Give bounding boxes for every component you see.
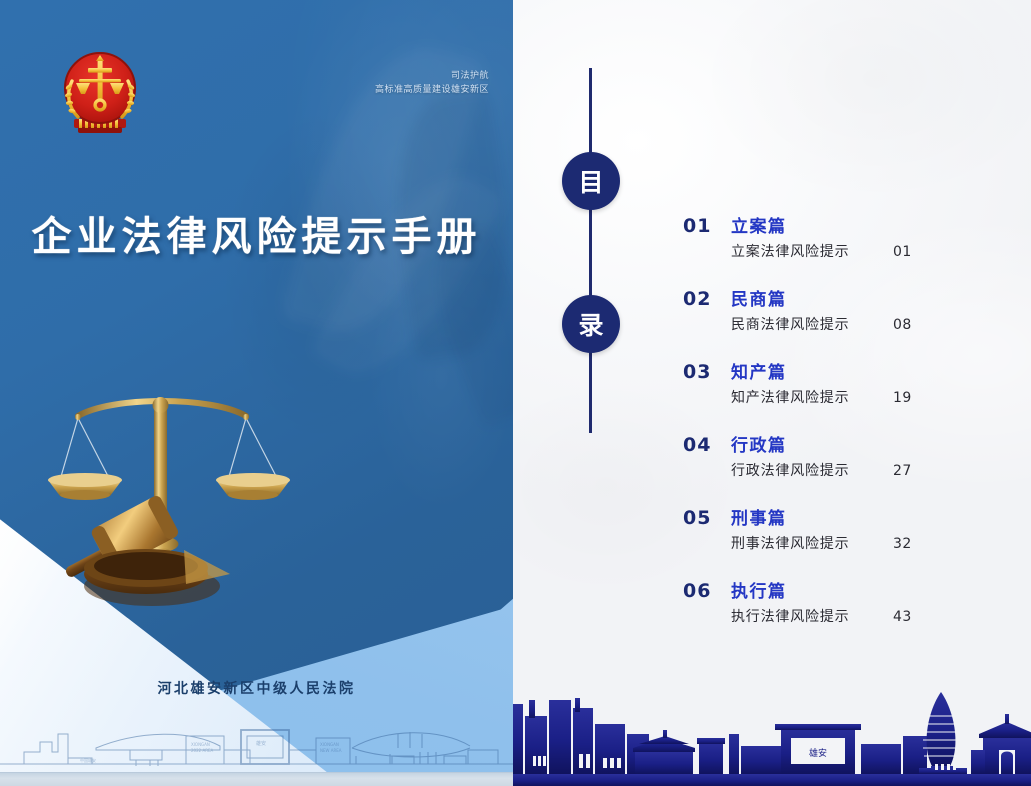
toc-entry[interactable]: 01 立案篇 立案法律风险提示 01 [683, 212, 1003, 285]
cover-bottom-strip [0, 772, 513, 786]
svg-text:中国雄安: 中国雄安 [80, 757, 96, 763]
toc-entry-description: 行政法律风险提示 [731, 460, 893, 480]
toc-entry-number: 03 [683, 361, 731, 383]
tagline-line-2: 高标准高质量建设雄安新区 [375, 84, 489, 98]
toc-entry-description: 刑事法律风险提示 [731, 533, 893, 553]
toc-entry-section: 刑事篇 [731, 504, 787, 529]
toc-entry-page: 43 [893, 609, 912, 625]
china-court-emblem-icon [52, 41, 148, 143]
cover-page: 司法护航 高标准高质量建设雄安新区 企业法律风险提示手册 [0, 0, 513, 786]
toc-entry-section: 行政篇 [731, 431, 787, 456]
svg-text:XIONGAN: XIONGAN [191, 742, 210, 747]
toc-entry-number: 04 [683, 434, 731, 456]
toc-entry-section: 民商篇 [731, 285, 787, 310]
toc-badge-lu: 录 [562, 295, 620, 353]
toc-entry-description: 执行法律风险提示 [731, 606, 893, 626]
toc-badge-mu: 目 [562, 152, 620, 210]
toc-entry[interactable]: 02 民商篇 民商法律风险提示 08 [683, 285, 1003, 358]
toc-entry-section: 执行篇 [731, 577, 787, 602]
toc-vertical-rail [589, 68, 592, 433]
xiongan-skyline-outline-icon: 中国雄安 XIONGAN2022 AREA 雄安 XIONGANNEW AREA [0, 712, 513, 772]
toc-entry-page: 32 [893, 536, 912, 552]
toc-entry-number: 06 [683, 580, 731, 602]
tagline-line-1: 司法护航 [375, 70, 489, 84]
svg-text:NEW AREA: NEW AREA [320, 748, 342, 753]
toc-entry-number: 01 [683, 215, 731, 237]
court-name: 河北雄安新区中级人民法院 [0, 678, 513, 698]
xiongan-skyline-silhouette-icon: 雄安 [513, 686, 1031, 786]
toc-entry-number: 05 [683, 507, 731, 529]
toc-entry-description: 立案法律风险提示 [731, 241, 893, 261]
skyline-gate-label: 雄安 [809, 747, 827, 759]
toc-list: 01 立案篇 立案法律风险提示 01 02 民商篇 民商法律风险提示 08 [683, 212, 1003, 650]
cover-title: 企业法律风险提示手册 [0, 204, 513, 262]
svg-text:雄安: 雄安 [256, 740, 266, 747]
toc-entry-number: 02 [683, 288, 731, 310]
svg-text:XIONGAN: XIONGAN [320, 742, 339, 747]
toc-entry[interactable]: 04 行政篇 行政法律风险提示 27 [683, 431, 1003, 504]
svg-text:2022 AREA: 2022 AREA [191, 748, 213, 753]
toc-entry-page: 08 [893, 317, 912, 333]
toc-entry-section: 知产篇 [731, 358, 787, 383]
toc-entry-section: 立案篇 [731, 212, 787, 237]
cover-tagline: 司法护航 高标准高质量建设雄安新区 [375, 70, 489, 98]
table-of-contents-page: 目 录 01 立案篇 立案法律风险提示 01 02 民商篇 民商法律 [513, 0, 1031, 786]
book-spread: 司法护航 高标准高质量建设雄安新区 企业法律风险提示手册 [0, 0, 1031, 786]
toc-entry-page: 27 [893, 463, 912, 479]
toc-entry[interactable]: 03 知产篇 知产法律风险提示 19 [683, 358, 1003, 431]
toc-entry[interactable]: 06 执行篇 执行法律风险提示 43 [683, 577, 1003, 650]
toc-entry-page: 19 [893, 390, 912, 406]
toc-entry-description: 民商法律风险提示 [731, 314, 893, 334]
scales-of-justice-and-gavel-icon [34, 378, 290, 618]
toc-entry-description: 知产法律风险提示 [731, 387, 893, 407]
toc-entry[interactable]: 05 刑事篇 刑事法律风险提示 32 [683, 504, 1003, 577]
toc-entry-page: 01 [893, 244, 912, 260]
